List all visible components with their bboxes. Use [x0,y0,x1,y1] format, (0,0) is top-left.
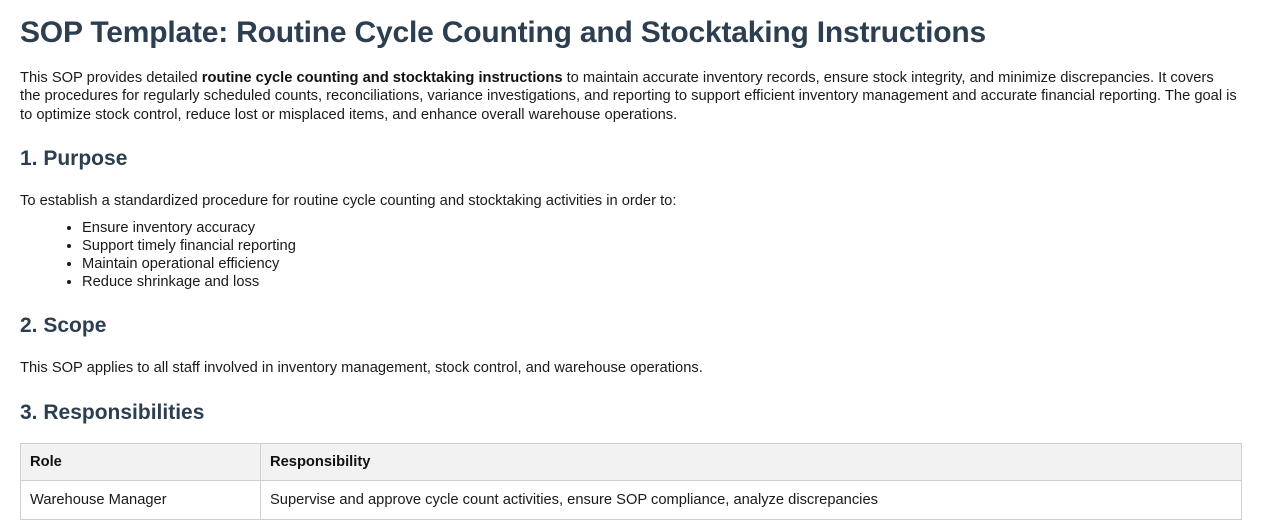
list-item: Maintain operational efficiency [82,255,1243,273]
table-header-row: Role Responsibility [21,444,1242,481]
purpose-lead-text: To establish a standardized procedure fo… [20,192,1238,211]
responsibilities-table: Role Responsibility Warehouse Manager Su… [20,443,1242,520]
column-header-role: Role [21,444,261,481]
intro-bold-phrase: routine cycle counting and stocktaking i… [202,70,563,86]
section-heading-scope: 2. Scope [20,313,1243,338]
scope-body-text: This SOP applies to all staff involved i… [20,359,1238,378]
list-item: Support timely financial reporting [82,237,1243,255]
page-title: SOP Template: Routine Cycle Counting and… [20,16,1243,51]
table-row: Warehouse Manager Supervise and approve … [21,481,1242,520]
cell-role: Warehouse Manager [21,481,261,520]
intro-text-before-bold: This SOP provides detailed [20,70,202,86]
intro-paragraph: This SOP provides detailed routine cycle… [20,69,1238,125]
section-heading-purpose: 1. Purpose [20,146,1243,171]
column-header-responsibility: Responsibility [261,444,1242,481]
list-item: Reduce shrinkage and loss [82,273,1243,291]
section-heading-responsibilities: 3. Responsibilities [20,400,1243,425]
document-page: SOP Template: Routine Cycle Counting and… [0,0,1263,520]
list-item: Ensure inventory accuracy [82,219,1243,237]
purpose-bullet-list: Ensure inventory accuracy Support timely… [20,219,1243,291]
cell-responsibility: Supervise and approve cycle count activi… [261,481,1242,520]
responsibilities-table-wrapper: Role Responsibility Warehouse Manager Su… [20,443,1243,520]
